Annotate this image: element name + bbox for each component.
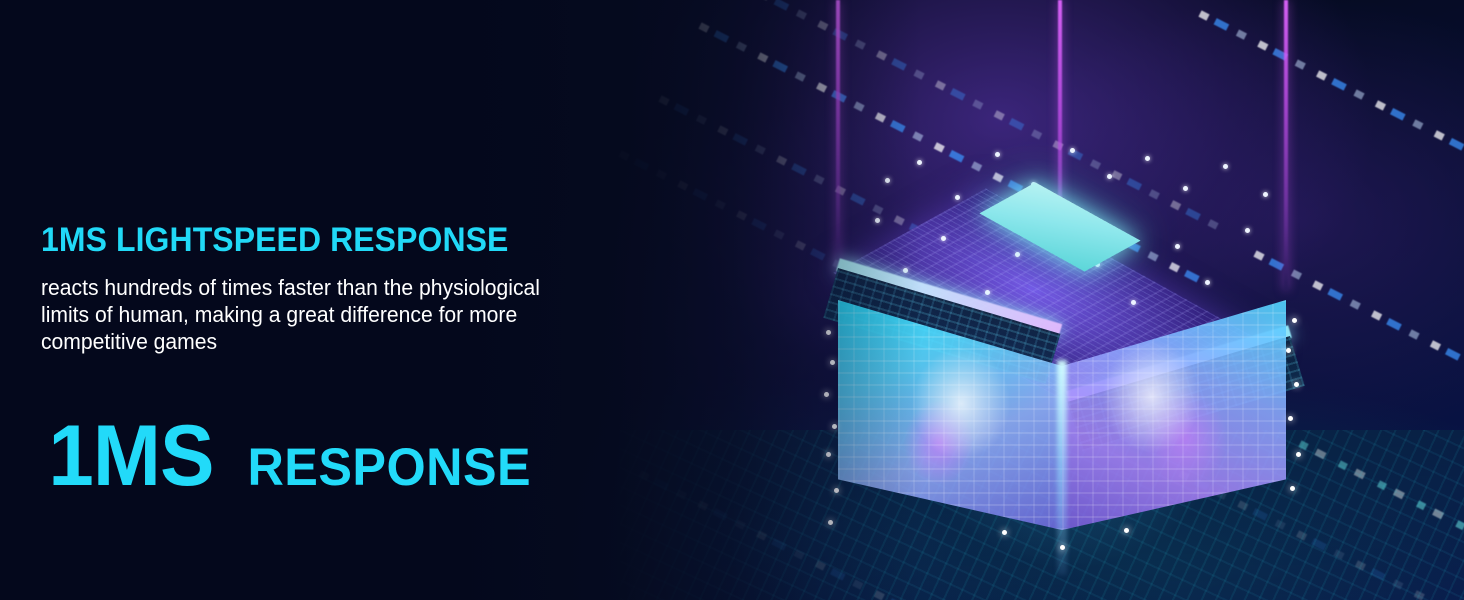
- product-feature-banner: 1MS LIGHTSPEED RESPONSE reacts hundreds …: [0, 0, 1464, 600]
- hero-number: 1MS: [48, 413, 213, 499]
- description-line-1: reacts hundreds of times faster than the…: [41, 274, 694, 301]
- description-line-2: limits of human, making a great differen…: [41, 301, 694, 328]
- page-title: 1MS LIGHTSPEED RESPONSE: [41, 220, 680, 260]
- feature-text-block: 1MS LIGHTSPEED RESPONSE reacts hundreds …: [41, 220, 721, 355]
- hero-word: RESPONSE: [247, 441, 531, 494]
- description-line-3: competitive games: [41, 328, 694, 355]
- hero-statement: 1MS RESPONSE: [44, 413, 538, 499]
- feature-description: reacts hundreds of times faster than the…: [41, 274, 694, 355]
